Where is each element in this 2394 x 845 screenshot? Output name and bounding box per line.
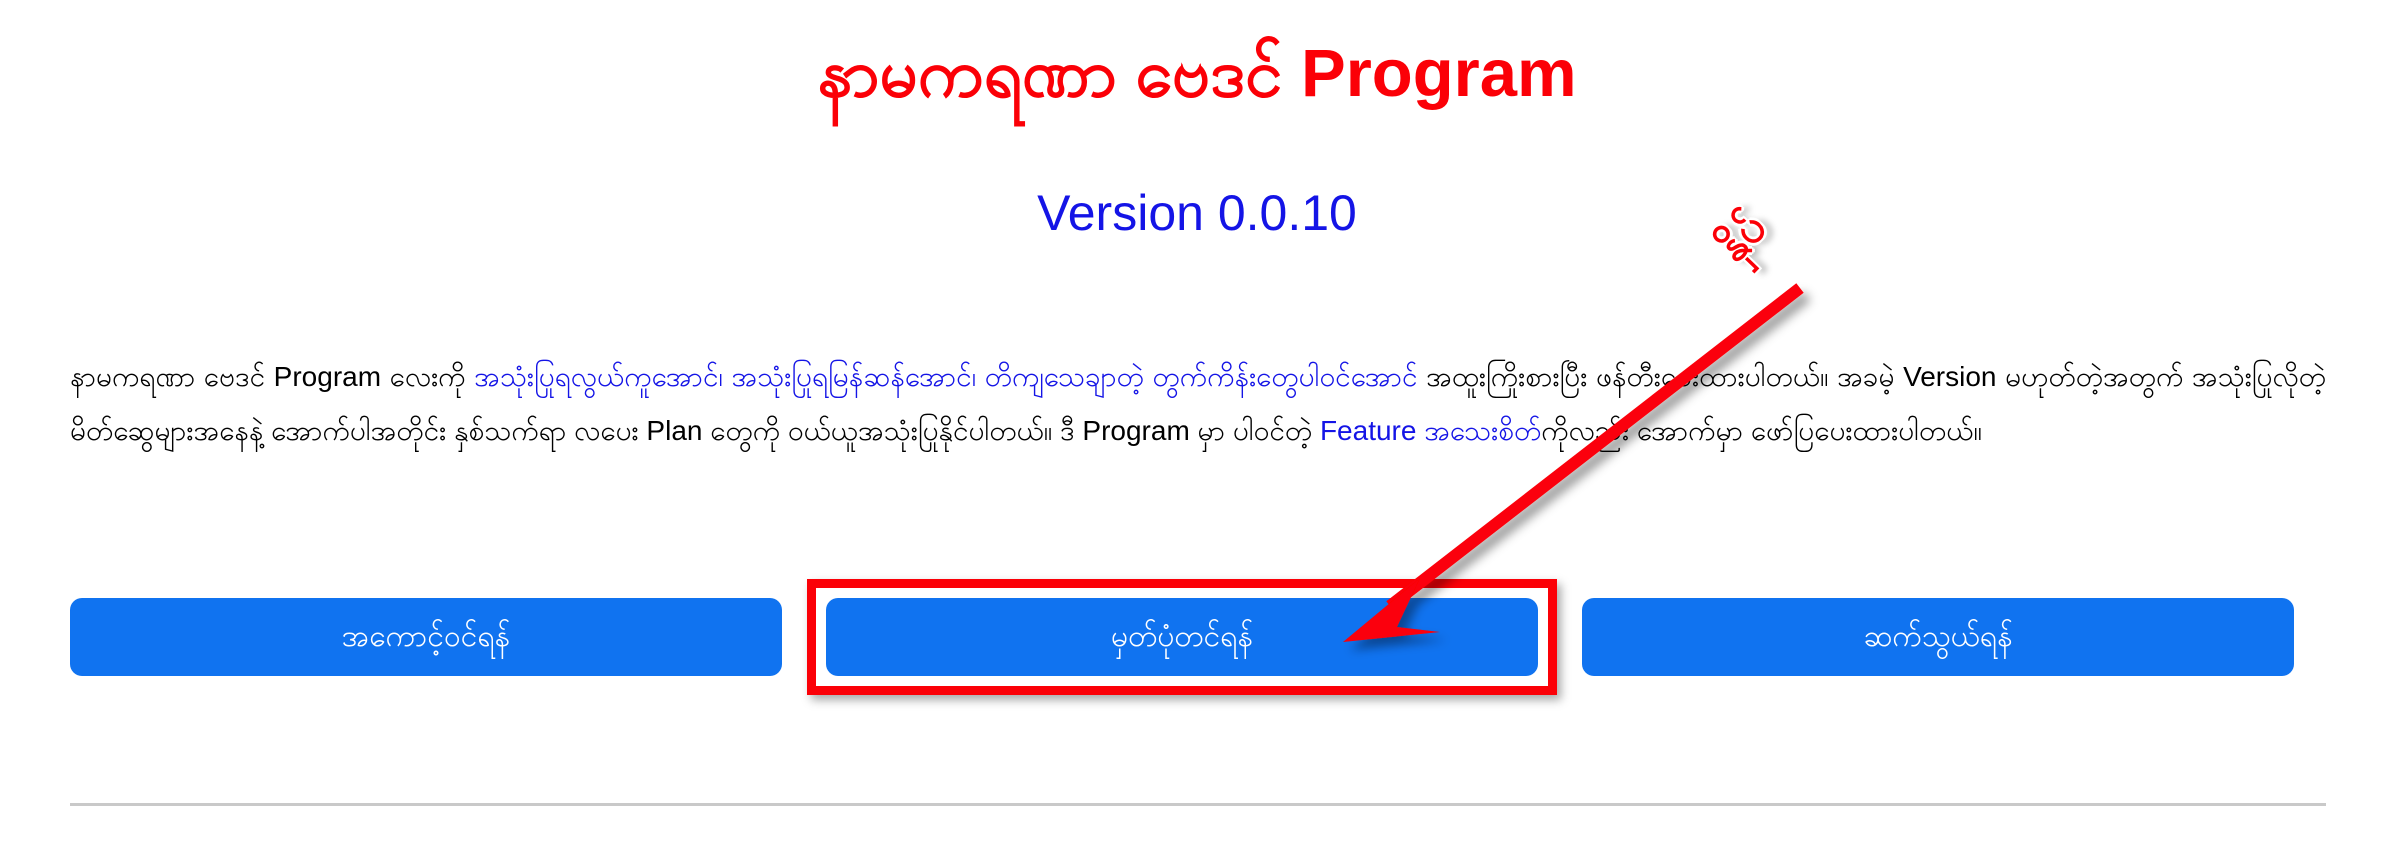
intro-text-segment-3: ကိုလည်း အောက်မှာ ဖော်ပြပေးထားပါတယ်။	[1541, 415, 1982, 446]
intro-highlight-1: အသုံးပြုရလွယ်ကူအောင်၊ အသုံးပြုရမြန်ဆန်အေ…	[474, 361, 1417, 392]
intro-paragraph: နာမကရဏာ ဗေဒင် Program လေးကို အသုံးပြုရလွ…	[70, 350, 2326, 458]
register-button[interactable]: မှတ်ပုံတင်ရန်	[826, 598, 1538, 676]
section-divider	[70, 803, 2326, 806]
arrow-shape	[1343, 288, 1800, 642]
intro-highlight-2: Feature အသေးစိတ်	[1320, 415, 1541, 446]
login-button[interactable]: အကောင့်ဝင်ရန်	[70, 598, 782, 676]
page-title: နာမကရဏာ ဗေဒင် Program	[0, 38, 2394, 110]
contact-button[interactable]: ဆက်သွယ်ရန်	[1582, 598, 2294, 676]
action-button-row: အကောင့်ဝင်ရန် မှတ်ပုံတင်ရန် ဆက်သွယ်ရန်	[0, 598, 2394, 676]
version-subtitle: Version 0.0.10	[0, 186, 2394, 241]
intro-text-segment-1: နာမကရဏာ ဗေဒင် Program လေးကို	[70, 361, 474, 392]
page-root: နာမကရဏာ ဗေဒင် Program Version 0.0.10 နာမ…	[0, 0, 2394, 845]
